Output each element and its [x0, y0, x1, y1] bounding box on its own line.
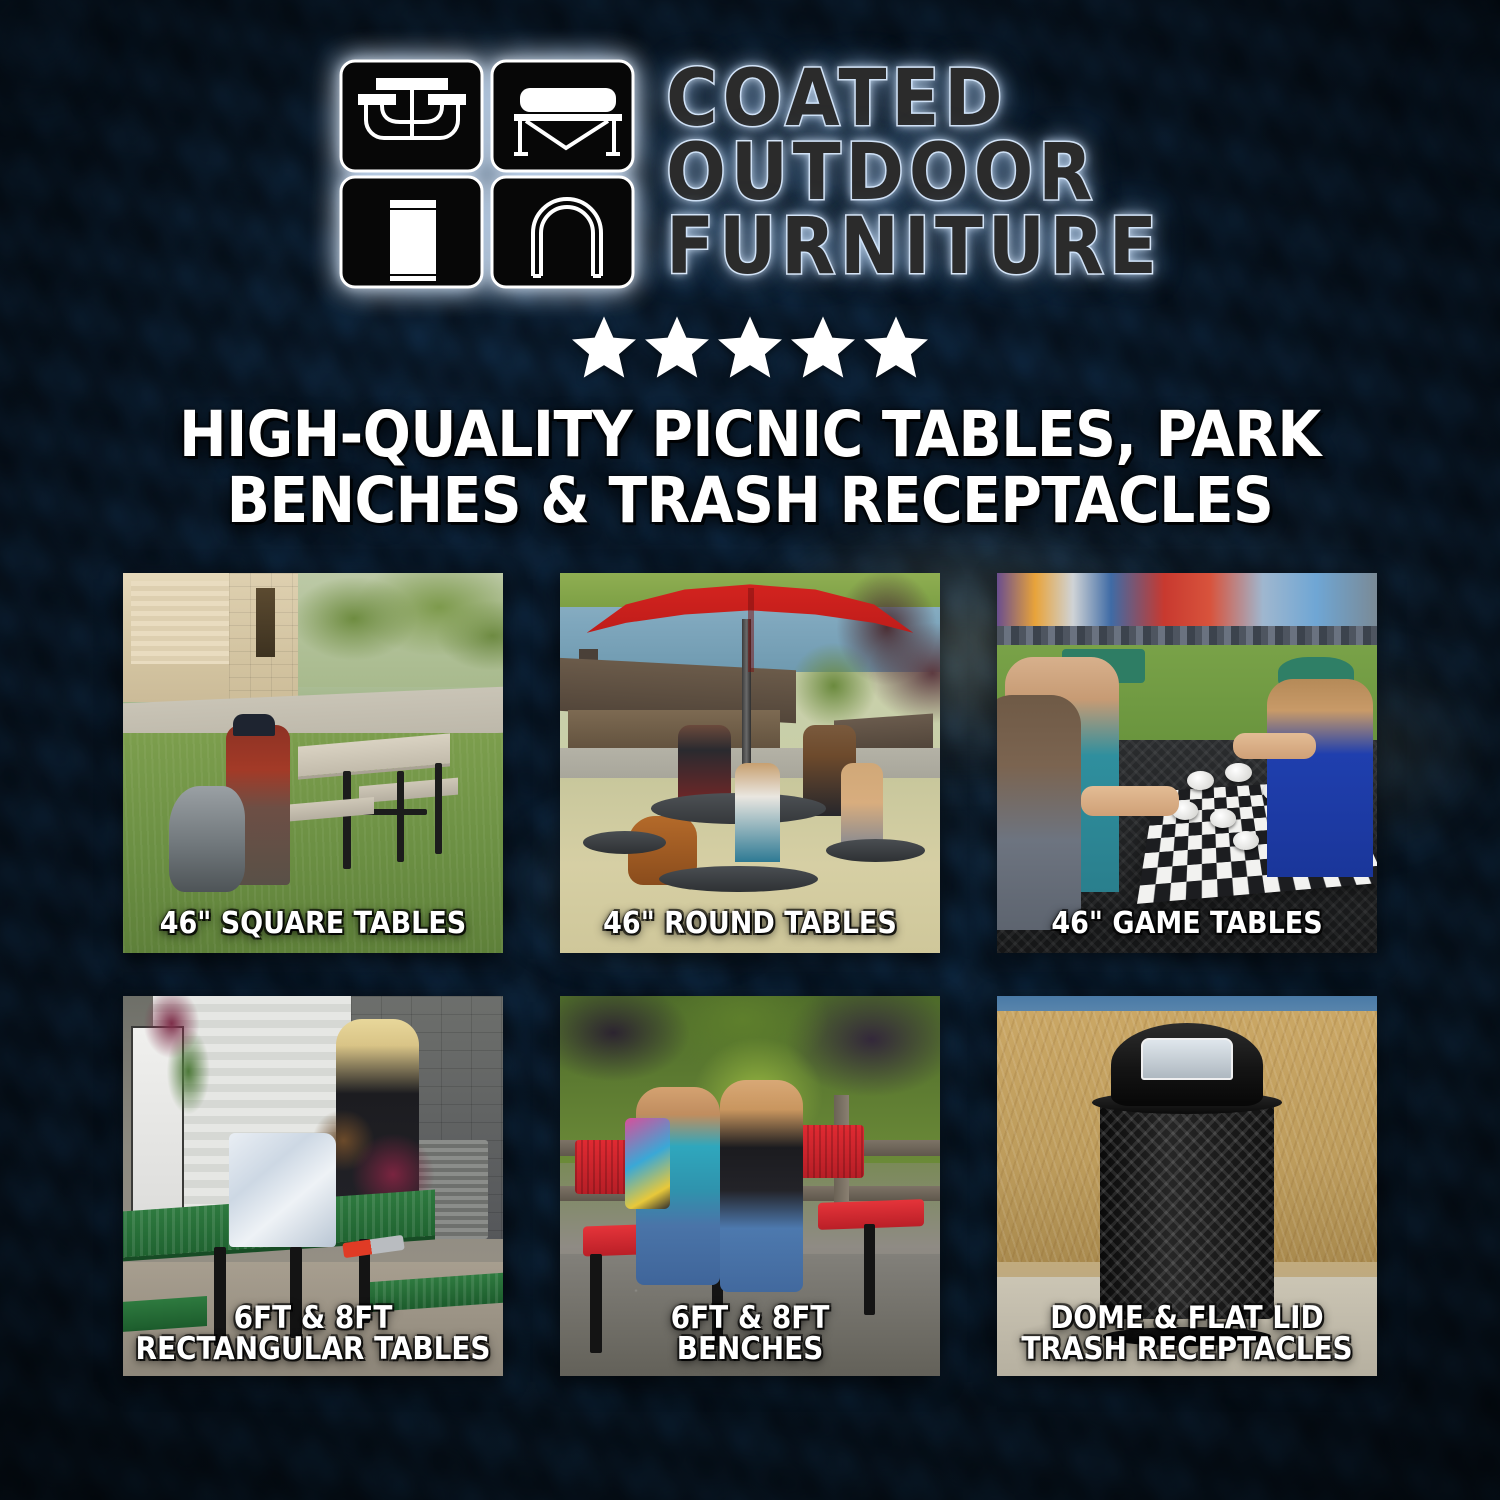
brand-logo: COATED OUTDOOR FURNITURE — [338, 58, 1162, 290]
product-photo-game-tables — [997, 573, 1377, 953]
furniture-quad-logo-icon — [338, 58, 636, 290]
product-caption: 6FT & 8FT BENCHES — [560, 1303, 940, 1366]
product-tile-trash-receptacles[interactable]: DOME & FLAT LID TRASH RECEPTACLES — [997, 996, 1377, 1376]
product-photo-round-tables — [560, 573, 940, 953]
caption-line-2: RECTANGULAR TABLES — [131, 1334, 495, 1366]
caption-line-1: 6FT & 8FT — [131, 1303, 495, 1335]
wordmark-line-1: COATED — [666, 64, 1162, 136]
product-caption: 6FT & 8FT RECTANGULAR TABLES — [123, 1303, 503, 1366]
star-icon — [864, 316, 928, 378]
wordmark-line-3: FURNITURE — [666, 212, 1162, 284]
product-tile-game-tables[interactable]: 46" GAME TABLES — [997, 573, 1377, 953]
caption-line-1: 46" ROUND TABLES — [568, 909, 932, 939]
trash-receptacle-icon — [390, 200, 436, 281]
poster-content: COATED OUTDOOR FURNITURE HIGH-QUALITY PI… — [0, 0, 1500, 1500]
product-tile-round-tables[interactable]: 46" ROUND TABLES — [560, 573, 940, 953]
product-caption: 46" SQUARE TABLES — [123, 909, 503, 939]
headline-line-2: BENCHES & TRASH RECEPTACLES — [100, 468, 1400, 534]
star-icon — [645, 316, 709, 378]
star-icon — [718, 316, 782, 378]
product-caption: DOME & FLAT LID TRASH RECEPTACLES — [997, 1303, 1377, 1366]
product-tile-benches[interactable]: 6FT & 8FT BENCHES — [560, 996, 940, 1376]
caption-line-1: 46" SQUARE TABLES — [131, 909, 495, 939]
product-tile-square-tables[interactable]: 46" SQUARE TABLES — [123, 573, 503, 953]
product-photo-square-tables — [123, 573, 503, 953]
caption-line-1: 6FT & 8FT — [568, 1303, 932, 1335]
star-icon — [572, 316, 636, 378]
headline-line-1: HIGH-QUALITY PICNIC TABLES, PARK — [100, 402, 1400, 468]
caption-line-2: TRASH RECEPTACLES — [1005, 1334, 1369, 1366]
wordmark-line-2: OUTDOOR — [666, 138, 1162, 210]
caption-line-1: DOME & FLAT LID — [1005, 1303, 1369, 1335]
page-title: HIGH-QUALITY PICNIC TABLES, PARK BENCHES… — [100, 402, 1400, 533]
product-grid: 46" SQUARE TABLES 46" ROUND TABLES — [123, 573, 1377, 1376]
star-rating — [572, 316, 928, 378]
caption-line-1: 46" GAME TABLES — [1005, 909, 1369, 939]
caption-line-2: BENCHES — [568, 1334, 932, 1366]
product-caption: 46" ROUND TABLES — [560, 909, 940, 939]
product-tile-rectangular-tables[interactable]: 6FT & 8FT RECTANGULAR TABLES — [123, 996, 503, 1376]
brand-wordmark: COATED OUTDOOR FURNITURE — [666, 64, 1162, 283]
star-icon — [791, 316, 855, 378]
product-caption: 46" GAME TABLES — [997, 909, 1377, 939]
